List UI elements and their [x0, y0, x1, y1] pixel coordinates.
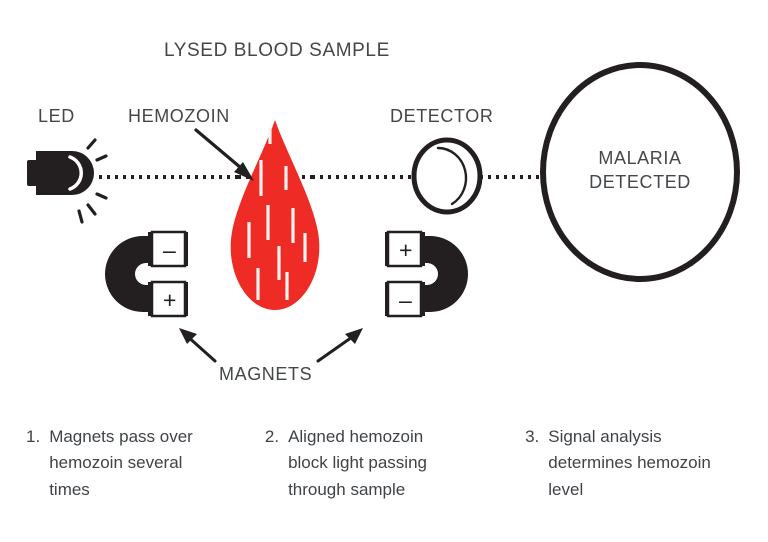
blood-drop-shape — [231, 120, 320, 310]
result-label: MALARIA DETECTED — [550, 147, 730, 195]
step-1-text: Magnets pass over hemozoin several times — [49, 424, 219, 503]
magnet-left-top-pole-sign: – — [163, 238, 176, 263]
result-label-line2: DETECTED — [550, 171, 730, 195]
step-2-text: Aligned hemozoin block light passing thr… — [288, 424, 458, 503]
result-label-line1: MALARIA — [550, 147, 730, 171]
led-icon — [27, 140, 106, 222]
label-magnets: MAGNETS — [219, 365, 312, 385]
magnet-right — [385, 232, 468, 316]
label-detector: DETECTOR — [390, 107, 493, 127]
step-item-1: 1. Magnets pass over hemozoin several ti… — [0, 424, 255, 534]
magnet-left-bottom-pole-sign: + — [163, 288, 176, 313]
magnet-right-bottom-pole-sign: – — [399, 288, 412, 313]
step-item-2: 2. Aligned hemozoin block light passing … — [255, 424, 503, 534]
step-3-text: Signal analysis determines hemozoin leve… — [548, 424, 718, 503]
magnets-arrow-right-shaft — [318, 335, 355, 361]
step-3-number: 3. — [525, 424, 539, 450]
led-body — [36, 151, 94, 195]
blood-drop-sample — [231, 120, 320, 310]
magnets-pointer-arrows — [179, 328, 363, 361]
label-led: LED — [38, 107, 75, 127]
magnet-right-top-pole-sign: + — [399, 238, 412, 263]
step-item-3: 3. Signal analysis determines hemozoin l… — [503, 424, 768, 534]
malaria-detection-diagram: LYSED BLOOD SAMPLE LED HEMOZOIN DETECTOR… — [0, 0, 768, 542]
steps-list: 1. Magnets pass over hemozoin several ti… — [0, 424, 768, 534]
page-title: LYSED BLOOD SAMPLE — [164, 41, 390, 62]
detector-icon — [414, 140, 480, 212]
label-hemozoin: HEMOZOIN — [128, 107, 230, 127]
step-2-number: 2. — [265, 424, 279, 450]
hemozoin-pointer-arrow — [196, 130, 254, 181]
step-1-number: 1. — [26, 424, 40, 450]
